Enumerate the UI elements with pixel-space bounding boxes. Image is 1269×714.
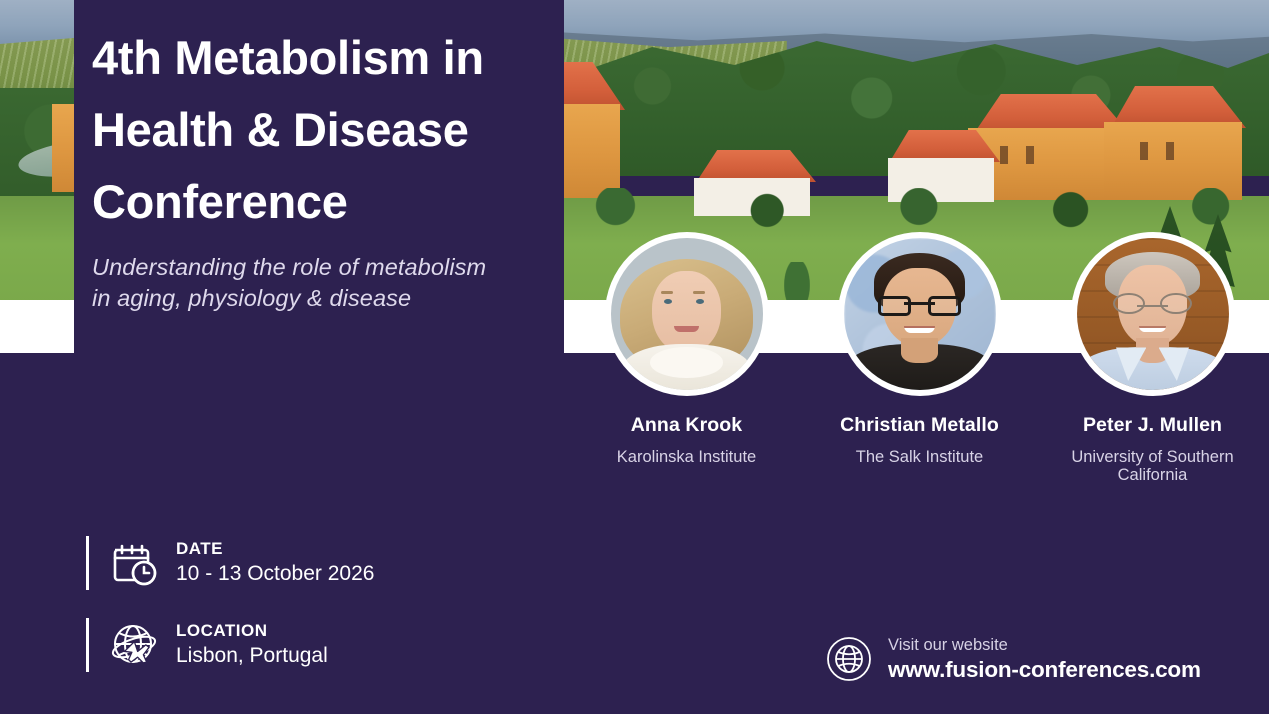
title-line-1: 4th Metabolism in [92, 22, 538, 94]
location-value: Lisbon, Portugal [176, 643, 328, 669]
date-row: DATE 10 - 13 October 2026 [86, 536, 374, 590]
avatar-ring [838, 232, 1002, 396]
date-label: DATE [176, 539, 374, 559]
subtitle-line-2: in aging, physiology & disease [92, 283, 538, 314]
speaker-name: Anna Krook [574, 414, 800, 437]
website-prompt: Visit our website [888, 636, 1201, 655]
speaker-card: Christian Metallo The Salk Institute [807, 232, 1033, 466]
date-value: 10 - 13 October 2026 [176, 561, 374, 587]
website-url[interactable]: www.fusion-conferences.com [888, 656, 1201, 683]
globe-circle-icon [826, 636, 872, 682]
avatar-ring [605, 232, 769, 396]
speaker-card: Anna Krook Karolinska Institute [574, 232, 800, 466]
globe-airplane-icon [108, 619, 160, 671]
window [1000, 146, 1008, 164]
avatar-christian-metallo [844, 238, 996, 390]
event-details: DATE 10 - 13 October 2026 LOCATION [86, 536, 374, 700]
conference-poster: 4th Metabolism in Health & Disease Confe… [0, 0, 1269, 714]
location-label: LOCATION [176, 621, 328, 641]
accent-bar [86, 536, 89, 590]
speaker-affiliation: University of Southern California [1040, 448, 1266, 485]
eyeglasses-icon [1113, 293, 1192, 314]
title-line-2: Health & Disease [92, 94, 538, 166]
eyeglasses-icon [878, 296, 960, 316]
speakers-list: Anna Krook Karolinska Institute [570, 232, 1269, 492]
speaker-card: Peter J. Mullen University of Southern C… [1040, 232, 1266, 485]
page-title: 4th Metabolism in Health & Disease Confe… [92, 22, 538, 238]
window [1140, 142, 1148, 160]
window [1026, 146, 1034, 164]
accent-bar [86, 618, 89, 672]
location-row: LOCATION Lisbon, Portugal [86, 618, 374, 672]
calendar-clock-icon [108, 537, 160, 589]
avatar-peter-j-mullen [1077, 238, 1229, 390]
speaker-name: Peter J. Mullen [1040, 414, 1266, 437]
website-link[interactable]: Visit our website www.fusion-conferences… [826, 636, 1201, 683]
title-line-3: Conference [92, 166, 538, 238]
page-subtitle: Understanding the role of metabolism in … [92, 252, 538, 315]
speaker-affiliation: The Salk Institute [807, 448, 1033, 466]
speaker-name: Christian Metallo [807, 414, 1033, 437]
subtitle-line-1: Understanding the role of metabolism [92, 252, 538, 283]
avatar-anna-krook [611, 238, 763, 390]
speaker-affiliation: Karolinska Institute [574, 448, 800, 466]
window [1166, 142, 1174, 160]
title-panel: 4th Metabolism in Health & Disease Confe… [74, 0, 564, 353]
avatar-ring [1071, 232, 1235, 396]
